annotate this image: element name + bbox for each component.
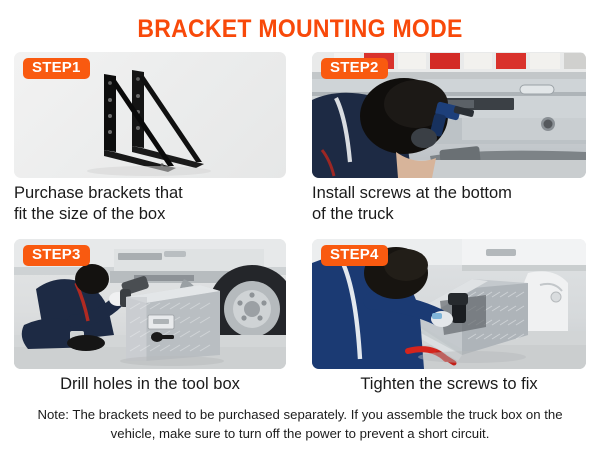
step-4-caption: Tighten the screws to fix — [312, 369, 586, 395]
step-1-photo: STEP1 — [14, 52, 286, 178]
step-3-caption: Drill holes in the tool box — [14, 369, 286, 395]
step-2-caption: Install screws at the bottom of the truc… — [312, 178, 586, 225]
steps-grid: STEP1 Purchase brackets that fit the siz… — [0, 52, 600, 395]
step-card-1: STEP1 Purchase brackets that fit the siz… — [0, 52, 300, 225]
step-3-photo: STEP3 — [14, 239, 286, 369]
infographic-page: BRACKET MOUNTING MODE — [0, 0, 600, 450]
step-2-photo: STEP2 — [312, 52, 586, 178]
step-4-photo: STEP4 — [312, 239, 586, 369]
step-3-badge: STEP3 — [23, 245, 90, 266]
page-title: BRACKET MOUNTING MODE — [24, 0, 576, 42]
note-text: Note: The brackets need to be purchased … — [22, 406, 578, 443]
step-2-badge: STEP2 — [321, 58, 388, 79]
steps-row-2: STEP3 Drill holes in the tool box — [0, 239, 600, 395]
step-card-2: STEP2 Install screws at the bottom of th… — [300, 52, 600, 225]
step-card-3: STEP3 Drill holes in the tool box — [0, 239, 300, 395]
steps-row-1: STEP1 Purchase brackets that fit the siz… — [0, 52, 600, 225]
step-1-caption: Purchase brackets that fit the size of t… — [14, 178, 286, 225]
step-1-badge: STEP1 — [23, 58, 90, 79]
step-card-4: STEP4 Tighten the screws to fix — [300, 239, 600, 395]
step-4-badge: STEP4 — [321, 245, 388, 266]
